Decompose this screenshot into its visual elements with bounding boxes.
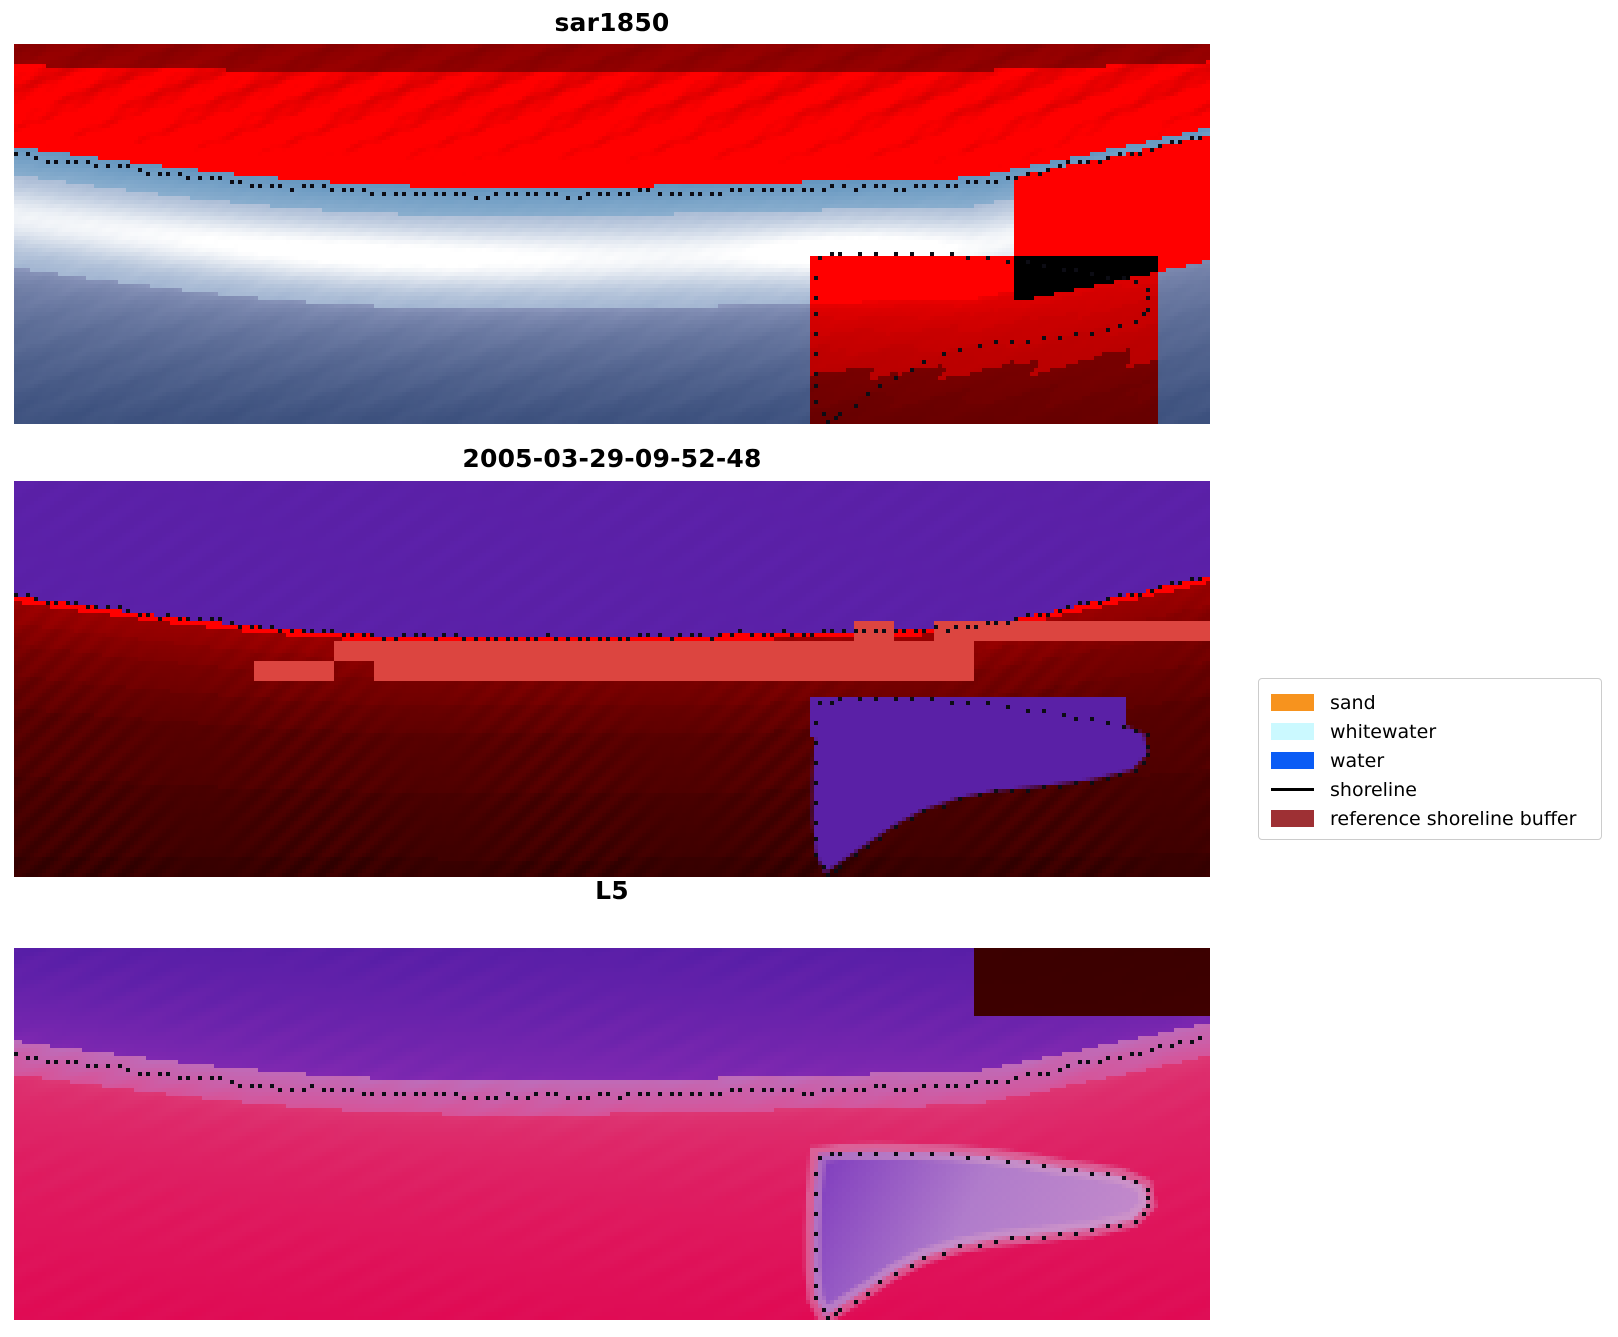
panel-title-sar: sar1850 [14,8,1210,37]
whitewater-swatch-icon [1271,723,1314,740]
reference-shoreline-buffer-swatch-icon [1271,810,1314,827]
legend-label-water: water [1330,750,1384,772]
water-swatch-icon [1271,752,1314,769]
legend-item-water: water [1271,746,1591,775]
legend-label-whitewater: whitewater [1330,721,1436,743]
legend-label-sand: sand [1330,692,1376,714]
legend-item-sand: sand [1271,688,1591,717]
legend-label-reference-shoreline-buffer: reference shoreline buffer [1330,808,1576,830]
shoreline-line-icon [1271,788,1314,791]
legend-item-reference-shoreline-buffer: reference shoreline buffer [1271,804,1591,833]
sand-swatch-icon [1271,694,1314,711]
sar-panel-image [14,44,1210,424]
l5-panel-image [14,948,1210,1320]
legend-item-shoreline: shoreline [1271,775,1591,804]
panel-title-classification: 2005-03-29-09-52-48 [14,444,1210,473]
legend-item-whitewater: whitewater [1271,717,1591,746]
legend-label-shoreline: shoreline [1330,779,1417,801]
legend-box: sand whitewater water shoreline referenc… [1258,678,1602,840]
panel-title-l5: L5 [14,876,1210,905]
classification-panel-image [14,481,1210,877]
figure-canvas: sar1850 2005-03-29-09-52-48 L5 sand whit… [0,0,1618,1337]
